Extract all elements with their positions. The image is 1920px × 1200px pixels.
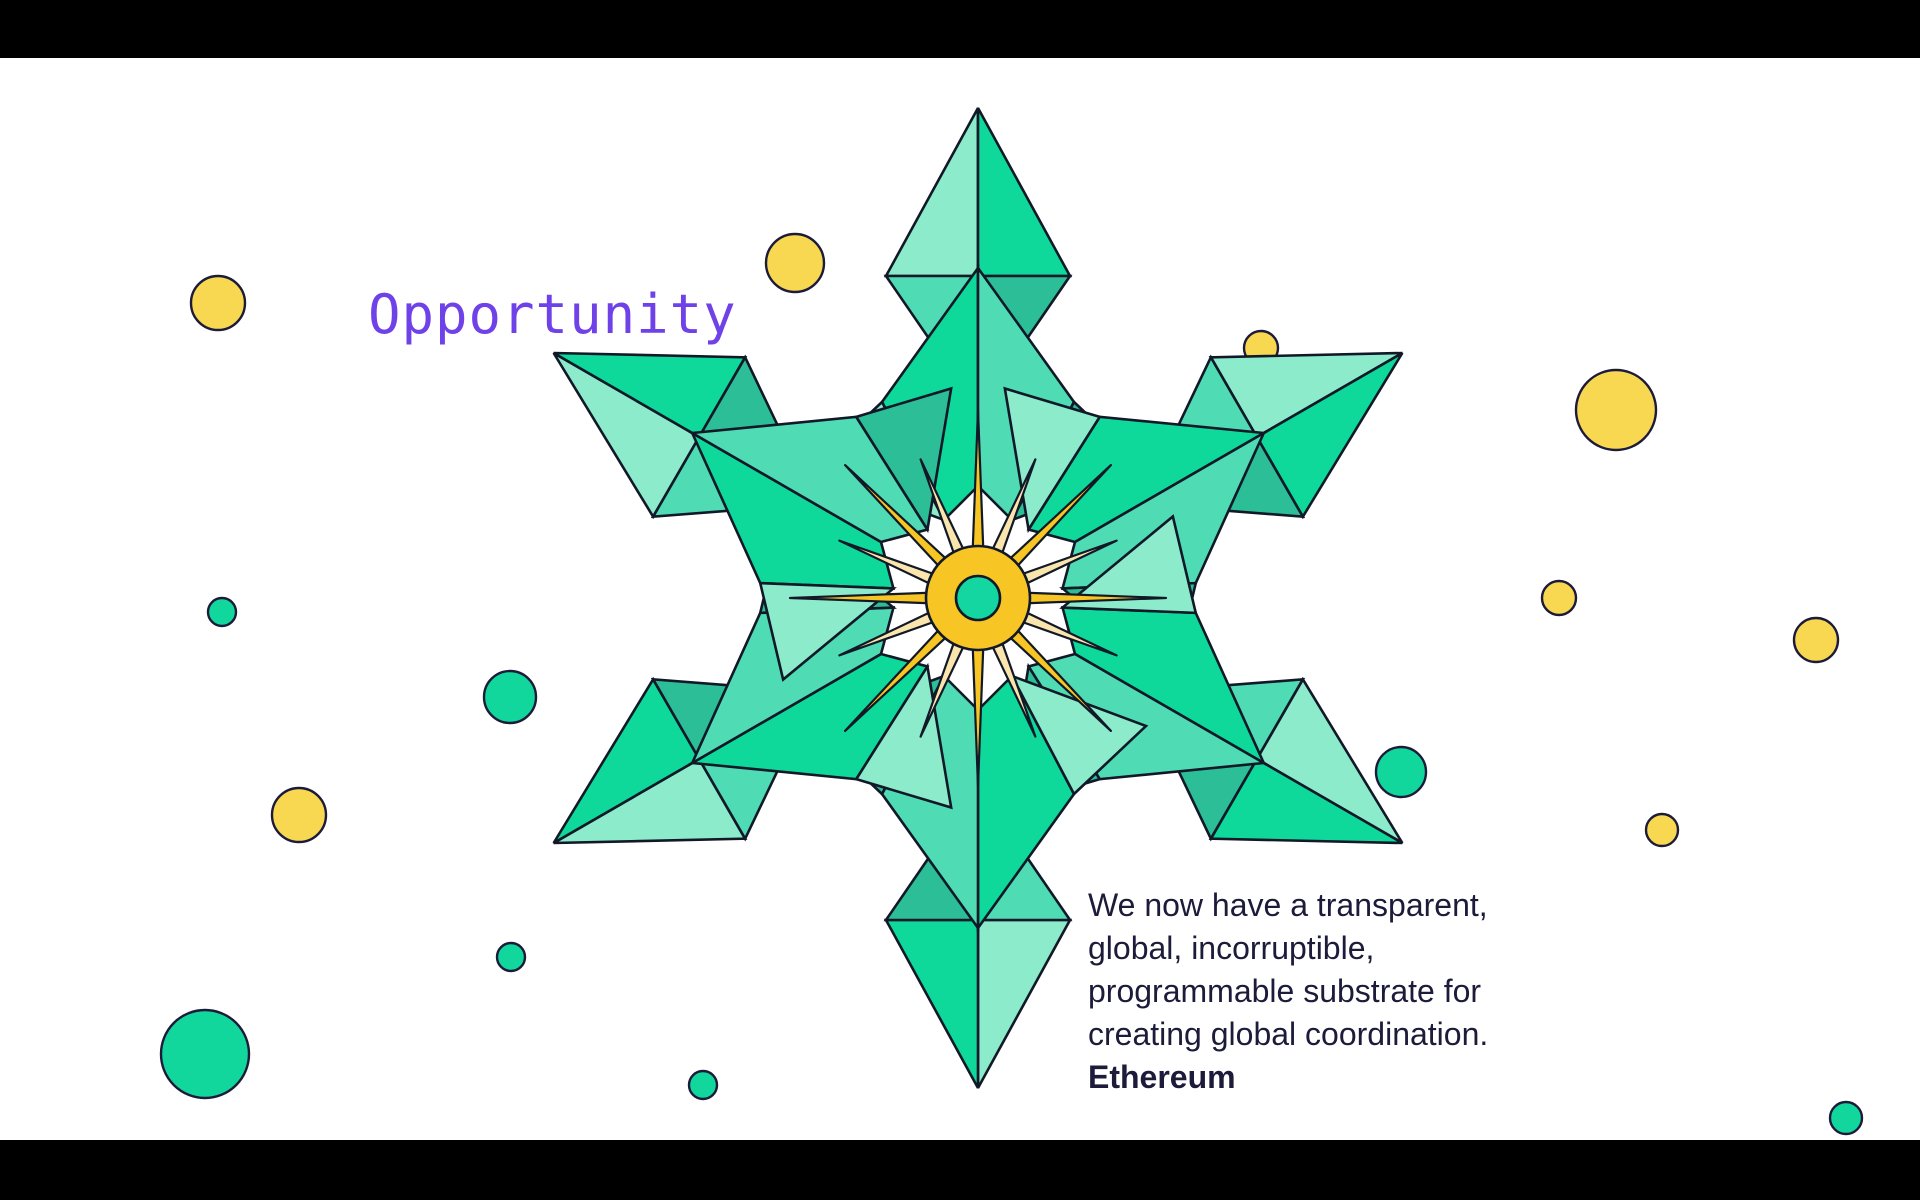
quote-line: programmable substrate for (1088, 970, 1608, 1013)
yellow-dot-7 (272, 788, 326, 842)
page-title: Opportunity (368, 288, 737, 342)
teal-dot-6 (161, 1010, 249, 1098)
yellow-dot-8 (1646, 814, 1678, 846)
teal-dot-3 (484, 671, 536, 723)
star-center-dot (956, 576, 1000, 620)
quote-line: We now have a transparent, (1088, 884, 1608, 927)
teal-dot-4 (1376, 747, 1426, 797)
eight-point-gold-star (790, 410, 1166, 786)
yellow-dot-4 (1576, 370, 1656, 450)
diamond-facet-upper-left (978, 920, 1070, 1088)
teal-dot-8 (1830, 1102, 1862, 1134)
teal-dot-2 (208, 598, 236, 626)
diamond-facet-upper-left (886, 108, 978, 276)
letterbox-bar-top (0, 0, 1920, 58)
diamond-facet-upper-right (978, 108, 1070, 276)
yellow-dot-2 (766, 234, 824, 292)
ethereum-mandala-artwork (0, 58, 1920, 1140)
yellow-dot-1 (191, 276, 245, 330)
letterbox-bar-bottom (0, 1140, 1920, 1200)
yellow-dot-5 (1542, 581, 1576, 615)
quote-attribution: Ethereum (1088, 1056, 1608, 1099)
yellow-dot-6 (1794, 618, 1838, 662)
quote-block: We now have a transparent, global, incor… (1088, 884, 1608, 1098)
diamond-facet-upper-right (886, 920, 978, 1088)
slide-canvas: Opportunity We now have a transparent, g… (0, 58, 1920, 1140)
teal-dot-7 (689, 1071, 717, 1099)
quote-line: global, incorruptible, (1088, 927, 1608, 970)
slide-root: Opportunity We now have a transparent, g… (0, 0, 1920, 1200)
teal-dot-5 (497, 943, 525, 971)
quote-line: creating global coordination. (1088, 1013, 1608, 1056)
